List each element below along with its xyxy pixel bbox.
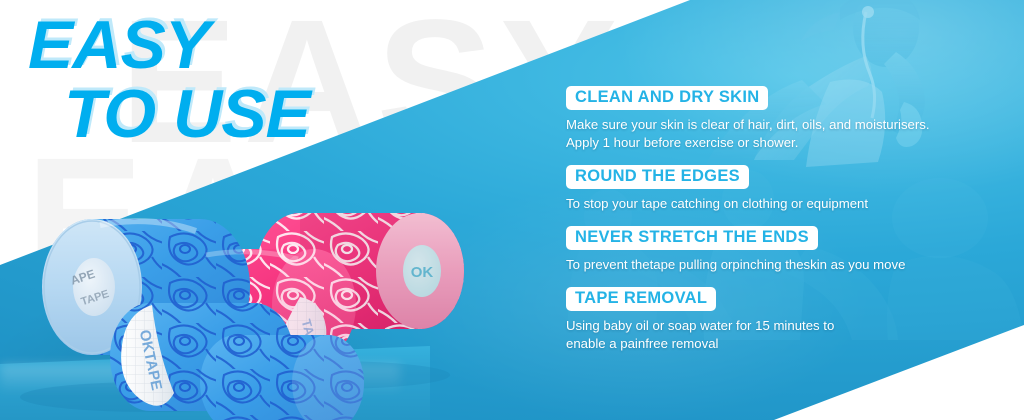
step-2-title: ROUND THE EDGES [566,165,749,189]
step-4-line-1: Using baby oil or soap water for 15 minu… [566,317,1012,335]
instruction-step-1: CLEAN AND DRY SKIN Make sure your skin i… [566,86,1018,152]
step-4-line-2: enable a painfree removal [566,335,1012,353]
step-3-description: To prevent thetape pulling orpinching th… [566,256,1012,274]
step-1-title: CLEAN AND DRY SKIN [566,86,768,110]
step-1-description: Make sure your skin is clear of hair, di… [566,116,1012,151]
instructions-panel: CLEAN AND DRY SKIN Make sure your skin i… [566,86,1018,352]
page-title: EASY TO USE [28,14,310,145]
step-2-description: To stop your tape catching on clothing o… [566,195,1012,213]
step-4-title: TAPE REMOVAL [566,287,716,311]
step-1-line-2: Apply 1 hour before exercise or shower. [566,134,1012,152]
instruction-step-4: TAPE REMOVAL Using baby oil or soap wate… [566,287,1018,353]
step-2-line-1: To stop your tape catching on clothing o… [566,195,1012,213]
tape-rolls-product-image: OK TAPE APE TAPE [0,185,560,420]
step-3-line-1: To prevent thetape pulling orpinching th… [566,256,1012,274]
instruction-step-3: NEVER STRETCH THE ENDS To prevent thetap… [566,226,1018,274]
tape-roll-blue-small [200,335,364,420]
headline-line-1: EASY [28,14,310,77]
step-4-description: Using baby oil or soap water for 15 minu… [566,317,1012,352]
step-1-line-1: Make sure your skin is clear of hair, di… [566,116,1012,134]
instruction-step-2: ROUND THE EDGES To stop your tape catchi… [566,165,1018,213]
headline-line-2: TO USE [28,83,310,146]
promo-banner: EASY EASY [0,0,1024,420]
step-3-title: NEVER STRETCH THE ENDS [566,226,818,250]
